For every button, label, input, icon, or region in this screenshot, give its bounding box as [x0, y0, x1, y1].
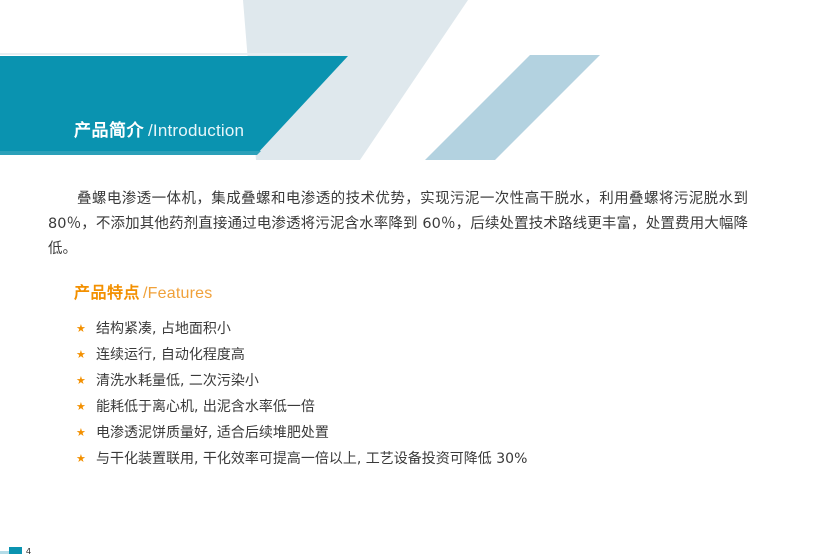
- list-item: ★ 电渗透泥饼质量好, 适合后续堆肥处置: [74, 420, 774, 446]
- features-section: 产品特点/Features ★ 结构紧凑, 占地面积小 ★ 连续运行, 自动化程…: [74, 286, 774, 472]
- page-title-en: /Introduction: [148, 121, 244, 140]
- list-item: ★ 能耗低于离心机, 出泥含水率低一倍: [74, 394, 774, 420]
- page-number: 4: [26, 548, 31, 554]
- star-icon: ★: [76, 420, 86, 446]
- list-item: ★ 结构紧凑, 占地面积小: [74, 316, 774, 342]
- star-icon: ★: [76, 342, 86, 368]
- list-item-label: 结构紧凑, 占地面积小: [96, 321, 231, 337]
- features-heading: 产品特点/Features: [74, 286, 774, 302]
- star-icon: ★: [76, 446, 86, 472]
- star-icon: ★: [76, 368, 86, 394]
- list-item: ★ 连续运行, 自动化程度高: [74, 342, 774, 368]
- header-teal-band-edge: [0, 151, 261, 155]
- list-item-label: 与干化装置联用, 干化效率可提高一倍以上, 工艺设备投资可降低 30%: [96, 451, 527, 467]
- star-icon: ★: [76, 316, 86, 342]
- list-item-label: 能耗低于离心机, 出泥含水率低一倍: [96, 399, 315, 415]
- footer-bar-dark: [9, 547, 22, 554]
- header-separator-line: [0, 53, 340, 55]
- page-title-cn: 产品简介: [74, 121, 144, 140]
- page-title: 产品简介/Introduction: [74, 122, 244, 140]
- star-icon: ★: [76, 394, 86, 420]
- list-item-label: 连续运行, 自动化程度高: [96, 347, 245, 363]
- list-item: ★ 清洗水耗量低, 二次污染小: [74, 368, 774, 394]
- intro-paragraph: 叠螺电渗透一体机，集成叠螺和电渗透的技术优势，实现污泥一次性高干脱水，利用叠螺将…: [48, 187, 748, 262]
- footer-page-marker: 4: [0, 546, 31, 554]
- footer-bar-light: [0, 551, 9, 554]
- features-list: ★ 结构紧凑, 占地面积小 ★ 连续运行, 自动化程度高 ★ 清洗水耗量低, 二…: [74, 316, 774, 472]
- list-item: ★ 与干化装置联用, 干化效率可提高一倍以上, 工艺设备投资可降低 30%: [74, 446, 774, 472]
- list-item-label: 电渗透泥饼质量好, 适合后续堆肥处置: [96, 425, 329, 441]
- features-heading-cn: 产品特点: [74, 285, 140, 302]
- list-item-label: 清洗水耗量低, 二次污染小: [96, 373, 259, 389]
- features-heading-en: /Features: [143, 285, 212, 302]
